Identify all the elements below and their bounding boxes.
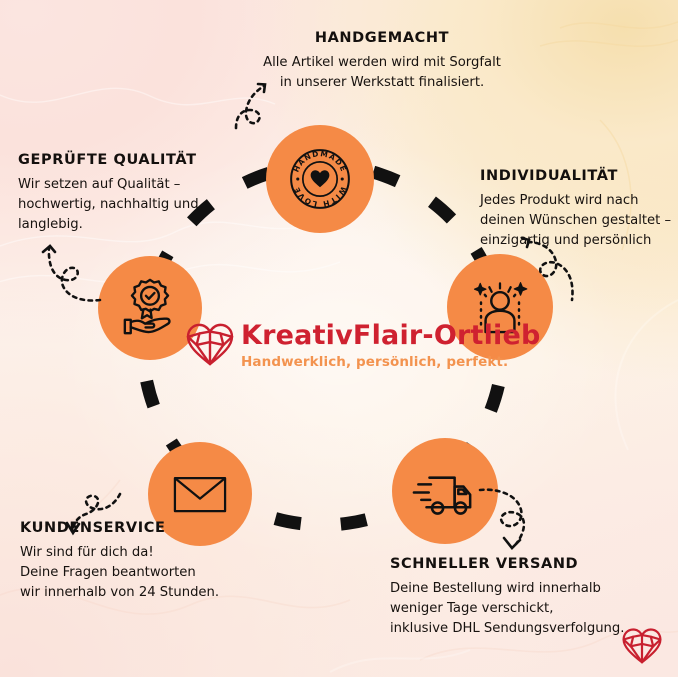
node-handmade[interactable]: HANDMADE WITH LOVE xyxy=(266,125,374,233)
node-shipping[interactable] xyxy=(392,438,498,544)
body-line: Jedes Produkt wird nach xyxy=(480,191,678,211)
body-line: Alle Artikel werden wird mit Sorgfalt xyxy=(247,53,517,73)
section-body-quality: Wir setzen auf Qualität – hochwertig, na… xyxy=(18,175,233,235)
body-line: wir innerhalb von 24 Stunden. xyxy=(20,583,250,603)
body-line: weniger Tage verschickt, xyxy=(390,599,675,619)
section-individuality: INDIVIDUALITÄT Jedes Produkt wird nach d… xyxy=(480,168,678,251)
body-line: Wir sind für dich da! xyxy=(20,543,250,563)
body-line: einzigartig und persönlich xyxy=(480,231,678,251)
section-title-customer-service: KUNDENSERVICE xyxy=(20,520,250,536)
logo-tagline: Handwerklich, persönlich, perfekt. xyxy=(241,354,541,370)
section-body-individuality: Jedes Produkt wird nach deinen Wünschen … xyxy=(480,191,678,251)
section-quality: GEPRÜFTE QUALITÄT Wir setzen auf Qualitä… xyxy=(18,152,233,235)
handmade-with-love-stamp-icon: HANDMADE WITH LOVE xyxy=(281,140,359,218)
section-title-shipping: SCHNELLER VERSAND xyxy=(390,556,675,572)
section-title-individuality: INDIVIDUALITÄT xyxy=(480,168,678,184)
body-line: Deine Bestellung wird innerhalb xyxy=(390,579,675,599)
section-customer-service: KUNDENSERVICE Wir sind für dich da! Dein… xyxy=(20,520,250,603)
section-title-quality: GEPRÜFTE QUALITÄT xyxy=(18,152,233,168)
geometric-heart-icon xyxy=(186,322,234,370)
body-line: deinen Wünschen gestaltet – xyxy=(480,211,678,231)
section-body-customer-service: Wir sind für dich da! Deine Fragen beant… xyxy=(20,543,250,603)
section-body-handmade: Alle Artikel werden wird mit Sorgfalt in… xyxy=(247,53,517,93)
body-line: in unserer Werkstatt finalisiert. xyxy=(247,73,517,93)
body-line: langlebig. xyxy=(18,215,233,235)
section-title-handmade: HANDGEMACHT xyxy=(247,30,517,46)
section-handmade: HANDGEMACHT Alle Artikel werden wird mit… xyxy=(247,30,517,93)
body-line: hochwertig, nachhaltig und xyxy=(18,195,233,215)
logo-name: KreativFlair-Ortlieb xyxy=(241,322,541,350)
hand-holding-award-icon xyxy=(113,271,187,345)
delivery-truck-icon xyxy=(408,454,482,528)
envelope-icon xyxy=(167,461,233,527)
corner-geometric-heart-icon xyxy=(622,627,662,668)
infographic-canvas: HANDMADE WITH LOVE xyxy=(0,0,678,677)
body-line: Wir setzen auf Qualität – xyxy=(18,175,233,195)
body-line: Deine Fragen beantworten xyxy=(20,563,250,583)
brand-logo: KreativFlair-Ortlieb Handwerklich, persö… xyxy=(186,312,456,380)
